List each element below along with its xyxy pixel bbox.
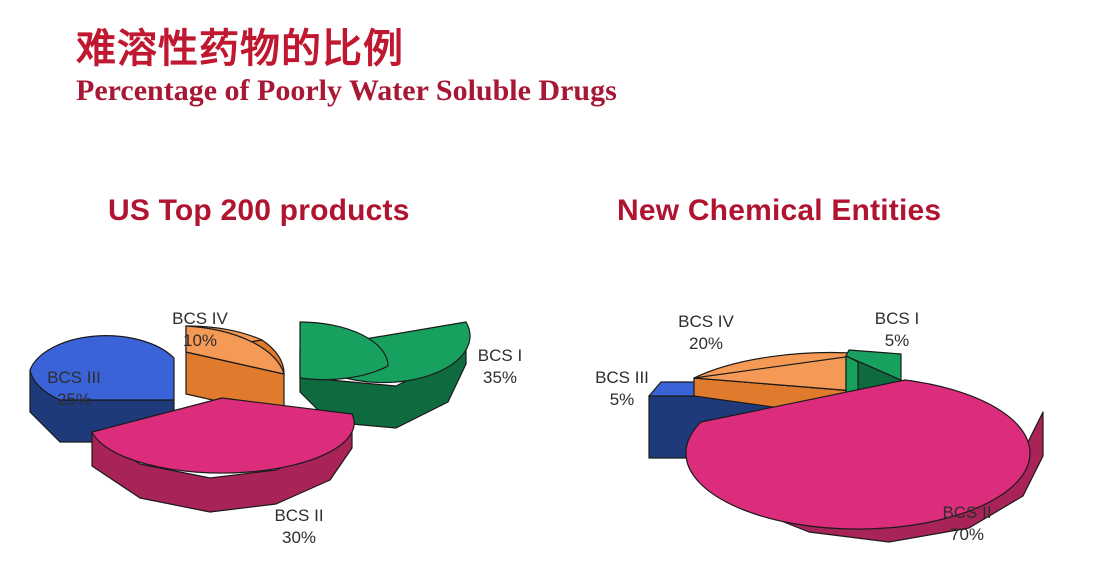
label-bcs2-right: BCS II 70%	[920, 502, 1014, 547]
label-bcs4-left-name: BCS IV	[152, 308, 248, 330]
label-bcs2-right-name: BCS II	[920, 502, 1014, 524]
label-bcs2-left-name: BCS II	[252, 505, 346, 527]
label-bcs4-right-value: 20%	[658, 333, 754, 355]
label-bcs2-left: BCS II 30%	[252, 505, 346, 550]
label-bcs3-left-name: BCS III	[32, 367, 116, 389]
label-bcs3-left: BCS III 25%	[32, 367, 116, 412]
label-bcs1-right-name: BCS I	[858, 308, 936, 330]
label-bcs1-left-name: BCS I	[461, 345, 539, 367]
page-title-english: Percentage of Poorly Water Soluble Drugs	[76, 73, 976, 109]
pie-chart-new-chemical-entities	[549, 270, 1098, 570]
label-bcs3-left-value: 25%	[32, 389, 116, 411]
pie-svg-right	[549, 270, 1098, 570]
label-bcs1-right-value: 5%	[858, 330, 936, 352]
slide-canvas: 难溶性药物的比例 Percentage of Poorly Water Solu…	[0, 0, 1098, 579]
page-title-chinese: 难溶性药物的比例	[76, 28, 976, 71]
label-bcs2-right-value: 70%	[920, 524, 1014, 546]
label-bcs3-right-name: BCS III	[580, 367, 664, 389]
label-bcs4-right-name: BCS IV	[658, 311, 754, 333]
label-bcs3-right: BCS III 5%	[580, 367, 664, 412]
title-block: 难溶性药物的比例 Percentage of Poorly Water Solu…	[76, 28, 976, 109]
label-bcs3-right-value: 5%	[580, 389, 664, 411]
label-bcs4-right: BCS IV 20%	[658, 311, 754, 356]
chart-heading-right: New Chemical Entities	[617, 194, 941, 228]
label-bcs1-left-value: 35%	[461, 367, 539, 389]
label-bcs2-left-value: 30%	[252, 527, 346, 549]
label-bcs4-left-value: 10%	[152, 330, 248, 352]
chart-heading-left: US Top 200 products	[108, 194, 410, 228]
label-bcs1-left: BCS I 35%	[461, 345, 539, 390]
label-bcs4-left: BCS IV 10%	[152, 308, 248, 353]
label-bcs1-right: BCS I 5%	[858, 308, 936, 353]
